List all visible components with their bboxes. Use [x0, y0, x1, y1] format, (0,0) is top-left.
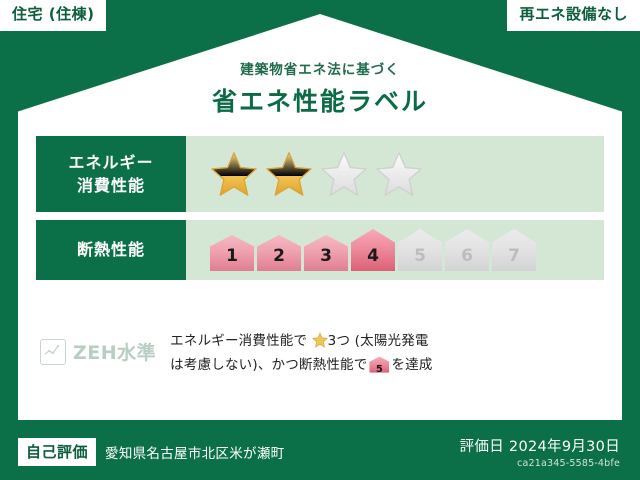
energy-performance-label: 住宅 (住棟) 再エネ設備なし 建築物省エネ法に基づく 省エネ性能ラベル エネル… [0, 0, 640, 480]
renewable-energy-badge-label: 再エネ設備なし [519, 6, 628, 23]
zeh-label: ZEH水準 [73, 338, 156, 365]
label-title-block: 建築物省エネ法に基づく 省エネ性能ラベル [0, 58, 640, 118]
label-subtitle: 建築物省エネ法に基づく [0, 58, 640, 78]
ratings-container: エネルギー 消費性能 [36, 136, 604, 288]
building-type-badge-label: 住宅 (住棟) [12, 6, 94, 23]
insulation-level-number: 1 [226, 246, 238, 271]
evaluation-date: 評価日 2024年9月30日 [460, 435, 620, 456]
insulation-level-number: 5 [414, 246, 426, 271]
star-icon [265, 151, 313, 197]
description-part-1: エネルギー消費性能で [170, 333, 307, 349]
insulation-level-1: 1 [210, 235, 254, 271]
insulation-level-7: 7 [492, 229, 536, 271]
insulation-level-number: 4 [367, 246, 379, 271]
energy-consumption-label-line1: エネルギー [68, 151, 153, 174]
insulation-level-4: 4 [351, 229, 395, 271]
self-evaluation-badge: 自己評価 [18, 438, 96, 466]
building-type-badge: 住宅 (住棟) [0, 0, 106, 31]
zeh-section: ZEH水準 エネルギー消費性能で 3つ (太陽光発電 は考慮しない)、かつ断熱性… [40, 330, 600, 377]
renewable-energy-badge: 再エネ設備なし [507, 0, 640, 31]
energy-consumption-row: エネルギー 消費性能 [36, 136, 604, 212]
energy-consumption-label-line2: 消費性能 [77, 174, 145, 197]
insulation-performance-label-text: 断熱性能 [77, 238, 145, 261]
insulation-level-number: 2 [273, 246, 285, 271]
inline-house-badge: 5 [369, 357, 389, 373]
insulation-performance-row: 断熱性能 1 2 3 [36, 220, 604, 280]
footer-left-group: 自己評価 愛知県名古屋市北区米が瀬町 [0, 438, 460, 466]
description-part-4: を達成 [391, 357, 432, 373]
star-icon [320, 151, 368, 197]
insulation-performance-label: 断熱性能 [36, 220, 186, 280]
insulation-level-number: 3 [320, 246, 332, 271]
property-address: 愛知県名古屋市北区米が瀬町 [105, 442, 284, 462]
zeh-chart-icon [40, 339, 66, 365]
label-footer: 自己評価 愛知県名古屋市北区米が瀬町 評価日 2024年9月30日 ca21a3… [0, 424, 640, 480]
insulation-level-number: 7 [508, 246, 520, 271]
star-icon [210, 151, 258, 197]
insulation-level-6: 6 [445, 229, 489, 271]
insulation-level-2: 2 [257, 235, 301, 271]
energy-consumption-label: エネルギー 消費性能 [36, 136, 186, 212]
energy-consumption-stars [186, 136, 604, 212]
insulation-scale: 1 2 3 4 5 [186, 220, 604, 280]
star-icon [312, 332, 328, 348]
insulation-level-number: 6 [461, 246, 473, 271]
achievement-description: エネルギー消費性能で 3つ (太陽光発電 は考慮しない)、かつ断熱性能で5を達成 [170, 330, 600, 377]
description-part-2: 3つ (太陽光発電 [328, 333, 429, 349]
page-title: 省エネ性能ラベル [0, 82, 640, 118]
evaluation-id: ca21a345-5585-4bfe [460, 458, 620, 469]
zeh-mark: ZEH水準 [40, 338, 156, 365]
description-part-3: は考慮しない)、かつ断熱性能で [170, 357, 367, 373]
inline-house-number: 5 [376, 364, 383, 375]
footer-right-group: 評価日 2024年9月30日 ca21a345-5585-4bfe [460, 435, 640, 469]
star-icon [375, 151, 423, 197]
insulation-level-3: 3 [304, 235, 348, 271]
insulation-level-5: 5 [398, 229, 442, 271]
